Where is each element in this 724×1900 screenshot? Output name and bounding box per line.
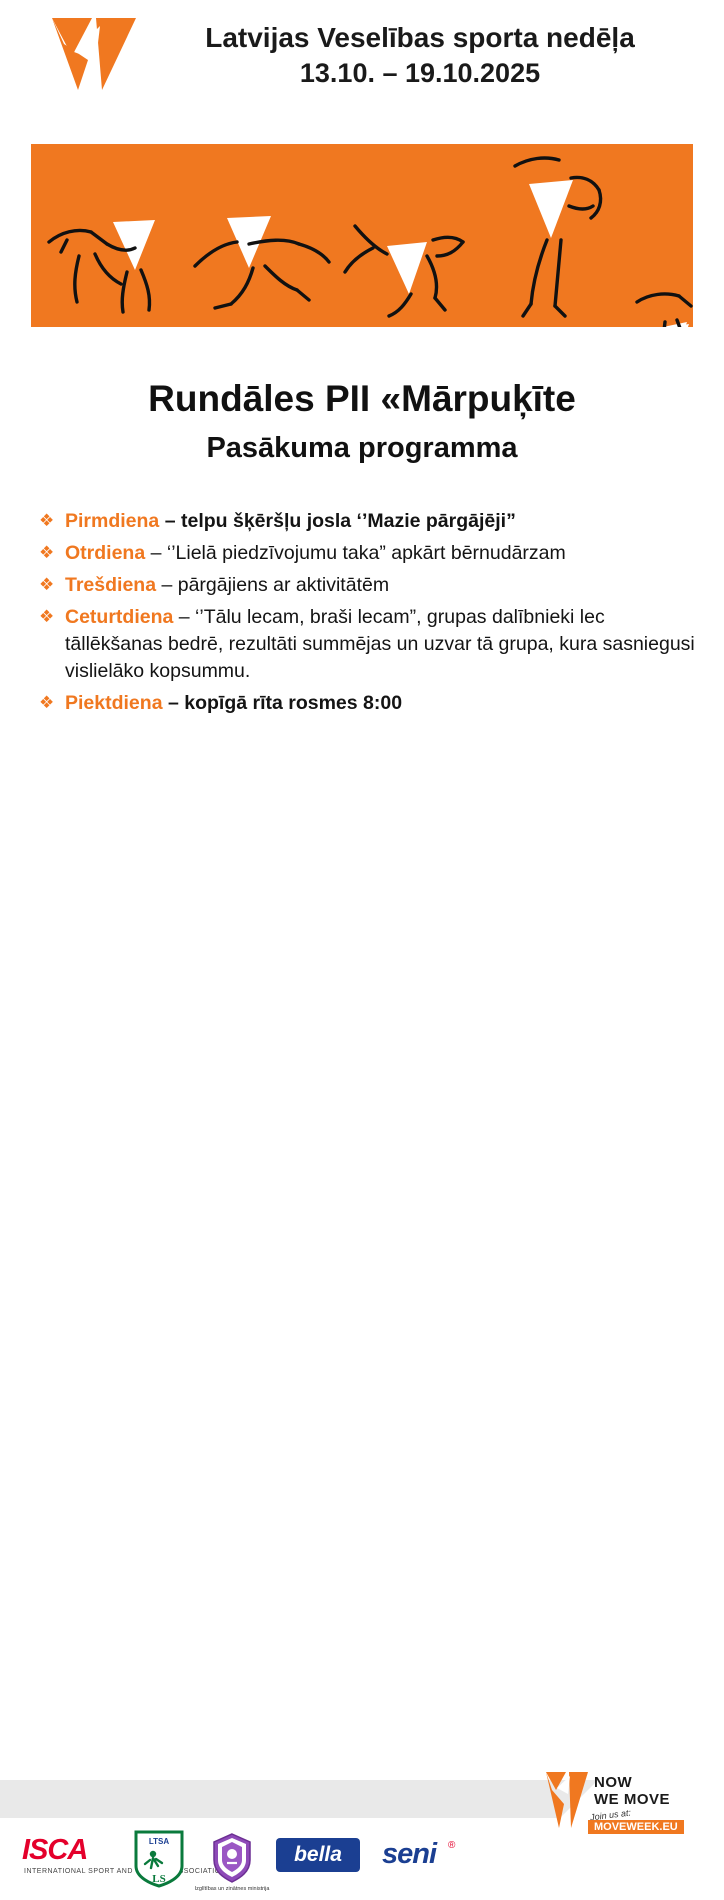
ltsa-logo: LTSA LS: [132, 1830, 186, 1888]
program-item-description: – pārgājiens ar aktivitātēm: [156, 574, 389, 596]
bella-logo: bella: [276, 1838, 360, 1872]
list-item: ❖ Pirmdiena – telpu šķēršļu josla ‘’Mazi…: [36, 508, 696, 535]
list-item: ❖ Ceturtdiena – ‘’Tālu lecam, braši leca…: [36, 604, 696, 685]
kindergarten-title: Rundāles PII «Mārpuķīte: [0, 378, 724, 420]
page-dates: 13.10. – 19.10.2025: [150, 58, 690, 89]
program-subtitle: Pasākuma programma: [0, 432, 724, 465]
isca-logo: ISCA: [22, 1834, 87, 1867]
program-item-text: Trešdiena – pārgājiens ar aktivitātēm: [65, 572, 696, 599]
list-item: ❖ Piektdiena – kopīgā rīta rosmes 8:00: [36, 690, 696, 717]
program-item-text: Ceturtdiena – ‘’Tālu lecam, braši lecam”…: [65, 604, 696, 685]
poster-footer: NOW WE MOVE Join us at: MOVEWEEK.EU ISCA…: [0, 884, 724, 1024]
list-item: ❖ Trešdiena – pārgājiens ar aktivitātēm: [36, 572, 696, 599]
program-list: ❖ Pirmdiena – telpu šķēršļu josla ‘’Mazi…: [36, 508, 696, 722]
diamond-bullet-icon: ❖: [36, 540, 65, 566]
now-we-move-wordmark: NOW WE MOVE: [594, 1774, 670, 1808]
diamond-bullet-icon: ❖: [36, 508, 65, 534]
program-day-label: Otrdiena: [65, 542, 145, 564]
svg-text:LTSA: LTSA: [149, 1837, 170, 1846]
footer-grey-band: [0, 1780, 560, 1818]
svg-text:LS: LS: [152, 1873, 165, 1885]
program-item-text: Otrdiena – ‘’Lielā piedzīvojumu taka” ap…: [65, 540, 696, 567]
program-item-description: – kopīgā rīta rosmes 8:00: [163, 692, 403, 714]
now-we-move-arrow-logo: [44, 16, 140, 92]
program-day-label: Trešdiena: [65, 574, 156, 596]
seni-logo: seni: [382, 1838, 436, 1871]
poster-header: Latvijas Veselības sporta nedēļa 13.10. …: [0, 0, 724, 120]
diamond-bullet-icon: ❖: [36, 690, 65, 716]
program-item-description: – telpu šķēršļu josla ‘’Mazie pārgājēji”: [159, 510, 516, 532]
page-title: Latvijas Veselības sporta nedēļa: [150, 22, 690, 54]
banner-illustration: [31, 144, 693, 327]
program-item-text: Piektdiena – kopīgā rīta rosmes 8:00: [65, 690, 696, 717]
ministry-logo: [200, 1830, 264, 1886]
sponsor-logos: ISCA INTERNATIONAL SPORT AND CULTURE ASS…: [0, 1820, 724, 1900]
program-day-label: Pirmdiena: [65, 510, 159, 532]
nwm-line2: WE MOVE: [594, 1791, 670, 1808]
diamond-bullet-icon: ❖: [36, 604, 65, 630]
program-item-text: Pirmdiena – telpu šķēršļu josla ‘’Mazie …: [65, 508, 696, 535]
isca-logo-subtitle: INTERNATIONAL SPORT AND CULTURE ASSOCIAT…: [24, 1868, 226, 1875]
nwm-line1: NOW: [594, 1774, 670, 1791]
running-figures-artwork: [31, 144, 693, 327]
seni-registered-mark: ®: [448, 1840, 455, 1851]
program-item-description: – ‘’Lielā piedzīvojumu taka” apkārt bērn…: [145, 542, 566, 564]
program-day-label: Piektdiena: [65, 692, 163, 714]
ministry-logo-caption: Izglītības un zinātnes ministrija: [192, 1886, 272, 1893]
diamond-bullet-icon: ❖: [36, 572, 65, 598]
list-item: ❖ Otrdiena – ‘’Lielā piedzīvojumu taka” …: [36, 540, 696, 567]
header-title-block: Latvijas Veselības sporta nedēļa 13.10. …: [150, 22, 690, 89]
program-day-label: Ceturtdiena: [65, 606, 173, 628]
